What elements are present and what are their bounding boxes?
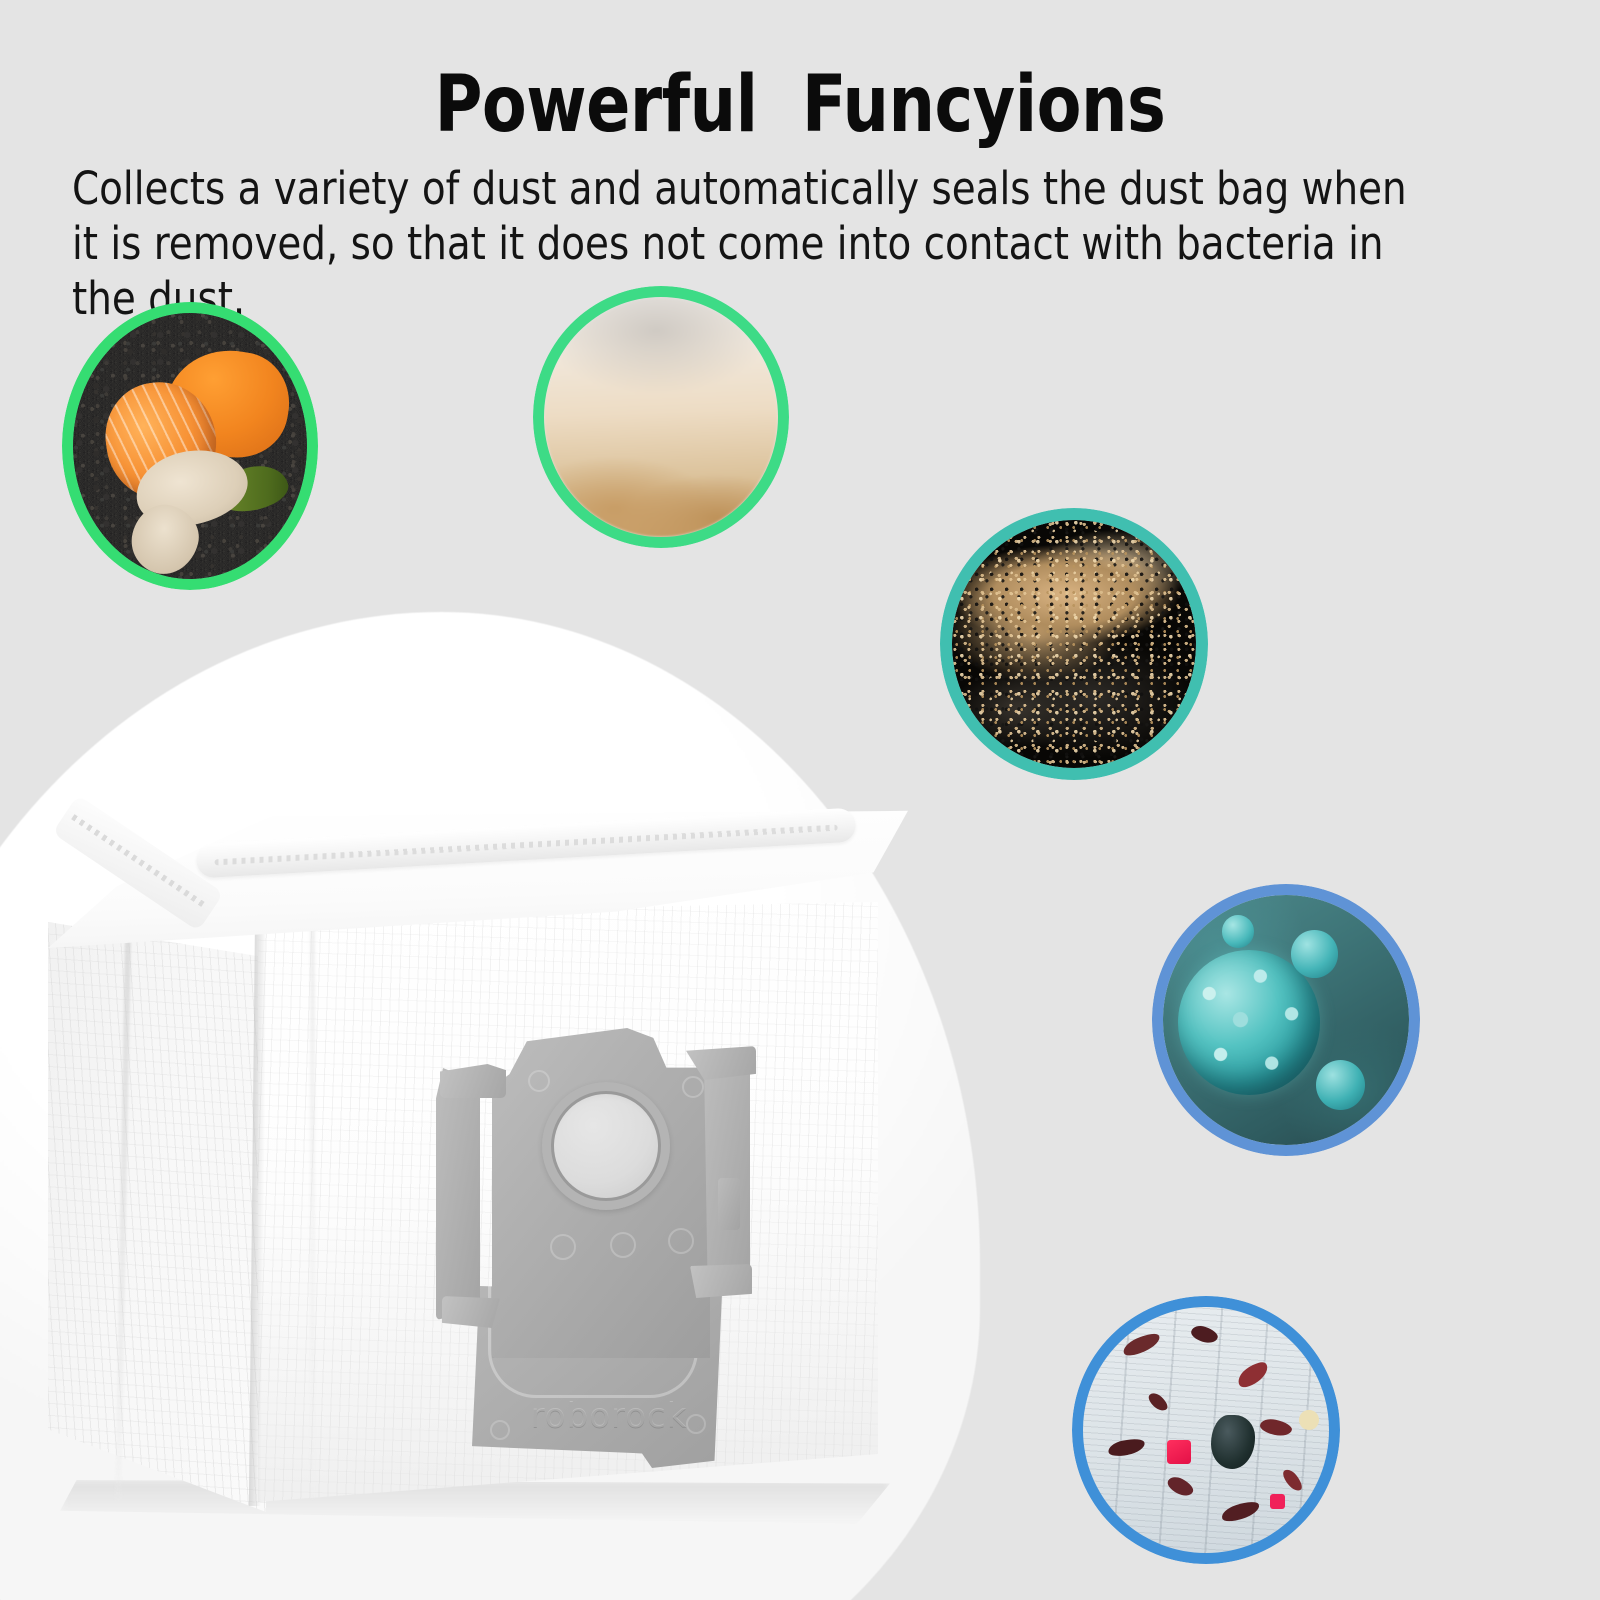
collar-dimple bbox=[610, 1232, 636, 1258]
page-description: Collects a variety of dust and automatic… bbox=[72, 162, 1445, 327]
bag-side-panel bbox=[48, 922, 266, 1512]
bag-ground-shadow bbox=[60, 1480, 890, 1524]
collar-dimple bbox=[686, 1414, 706, 1434]
collar-dimple bbox=[682, 1076, 704, 1098]
collar-latch-tab bbox=[718, 1178, 740, 1230]
collar-dimple bbox=[550, 1234, 576, 1260]
badge-dust-cloud bbox=[533, 286, 789, 548]
badge-ring-blue bbox=[1072, 1296, 1340, 1564]
brand-logo-text: roborock bbox=[500, 1396, 718, 1436]
badge-sand-grit bbox=[940, 508, 1208, 780]
badge-floor-debris bbox=[1072, 1296, 1340, 1564]
badge-ring-teal bbox=[940, 508, 1208, 780]
collar-rail-right bbox=[704, 1052, 750, 1288]
bag-crease bbox=[310, 930, 315, 1500]
badge-ring-green bbox=[533, 286, 789, 548]
badge-orange-peel bbox=[62, 302, 318, 590]
collar-clip-top-left bbox=[440, 1064, 506, 1098]
collar-clip-bottom-right bbox=[690, 1264, 752, 1298]
badge-ring-blue bbox=[1152, 884, 1420, 1156]
dust-bag-collar: roborock bbox=[432, 1028, 770, 1468]
badge-ring-green bbox=[62, 302, 318, 590]
dust-bag-product: roborock bbox=[0, 790, 990, 1550]
collar-dimple bbox=[490, 1420, 510, 1440]
badge-bacteria bbox=[1152, 884, 1420, 1156]
collar-dimple bbox=[528, 1070, 550, 1092]
collar-dimple bbox=[668, 1228, 694, 1254]
page-title: Powerful Funcyions bbox=[56, 60, 1544, 150]
collar-suction-port bbox=[542, 1082, 670, 1210]
collar-clip-bottom-left bbox=[442, 1296, 500, 1328]
collar-rail-left bbox=[436, 1068, 480, 1320]
